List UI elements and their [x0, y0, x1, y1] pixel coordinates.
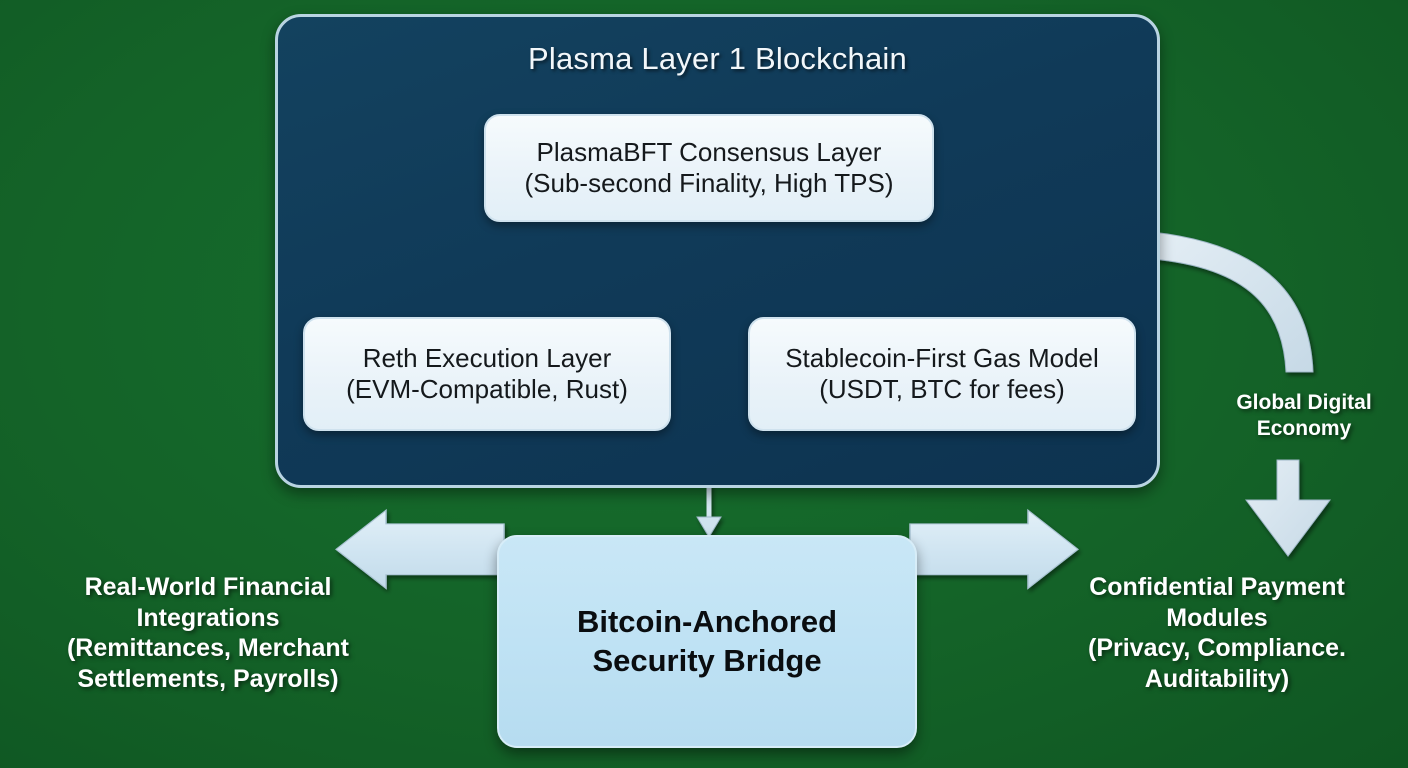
node-reth-execution-layer[interactable]: Reth Execution Layer (EVM-Compatible, Ru…: [303, 317, 671, 431]
label-right-line3: (Privacy, Compliance.: [1046, 633, 1388, 664]
node-bridge-line1: Bitcoin-Anchored: [577, 603, 837, 642]
node-plasmabft-consensus-layer[interactable]: PlasmaBFT Consensus Layer (Sub-second Fi…: [484, 114, 934, 222]
container-title: Plasma Layer 1 Blockchain: [278, 41, 1157, 77]
node-execution-line1: Reth Execution Layer: [346, 343, 628, 374]
label-global-line1: Global Digital: [1204, 390, 1404, 416]
label-left-line4: Settlements, Payrolls): [36, 664, 380, 695]
label-left-line3: (Remittances, Merchant: [36, 633, 380, 664]
label-right-line4: Auditability): [1046, 664, 1388, 695]
label-global-line2: Economy: [1204, 416, 1404, 442]
label-confidential-payment-modules: Confidential Payment Modules (Privacy, C…: [1046, 572, 1388, 694]
label-right-line2: Modules: [1046, 603, 1388, 634]
node-bridge-line2: Security Bridge: [577, 642, 837, 681]
label-left-line2: Integrations: [36, 603, 380, 634]
label-right-line1: Confidential Payment: [1046, 572, 1388, 603]
node-execution-line2: (EVM-Compatible, Rust): [346, 374, 628, 405]
diagram-canvas: Plasma Layer 1 Blockchain PlasmaBFT Cons…: [0, 0, 1408, 768]
node-stablecoin-first-gas-model[interactable]: Stablecoin-First Gas Model (USDT, BTC fo…: [748, 317, 1136, 431]
node-consensus-line1: PlasmaBFT Consensus Layer: [525, 137, 894, 168]
label-left-line1: Real-World Financial: [36, 572, 380, 603]
arrowhead-to-bridge: [697, 517, 721, 537]
node-gas-line1: Stablecoin-First Gas Model: [785, 343, 1099, 374]
label-real-world-financial-integrations: Real-World Financial Integrations (Remit…: [36, 572, 380, 694]
node-consensus-line2: (Sub-second Finality, High TPS): [525, 168, 894, 199]
node-bitcoin-anchored-security-bridge[interactable]: Bitcoin-Anchored Security Bridge: [497, 535, 917, 748]
label-global-digital-economy: Global Digital Economy: [1204, 390, 1404, 441]
node-gas-line2: (USDT, BTC for fees): [785, 374, 1099, 405]
